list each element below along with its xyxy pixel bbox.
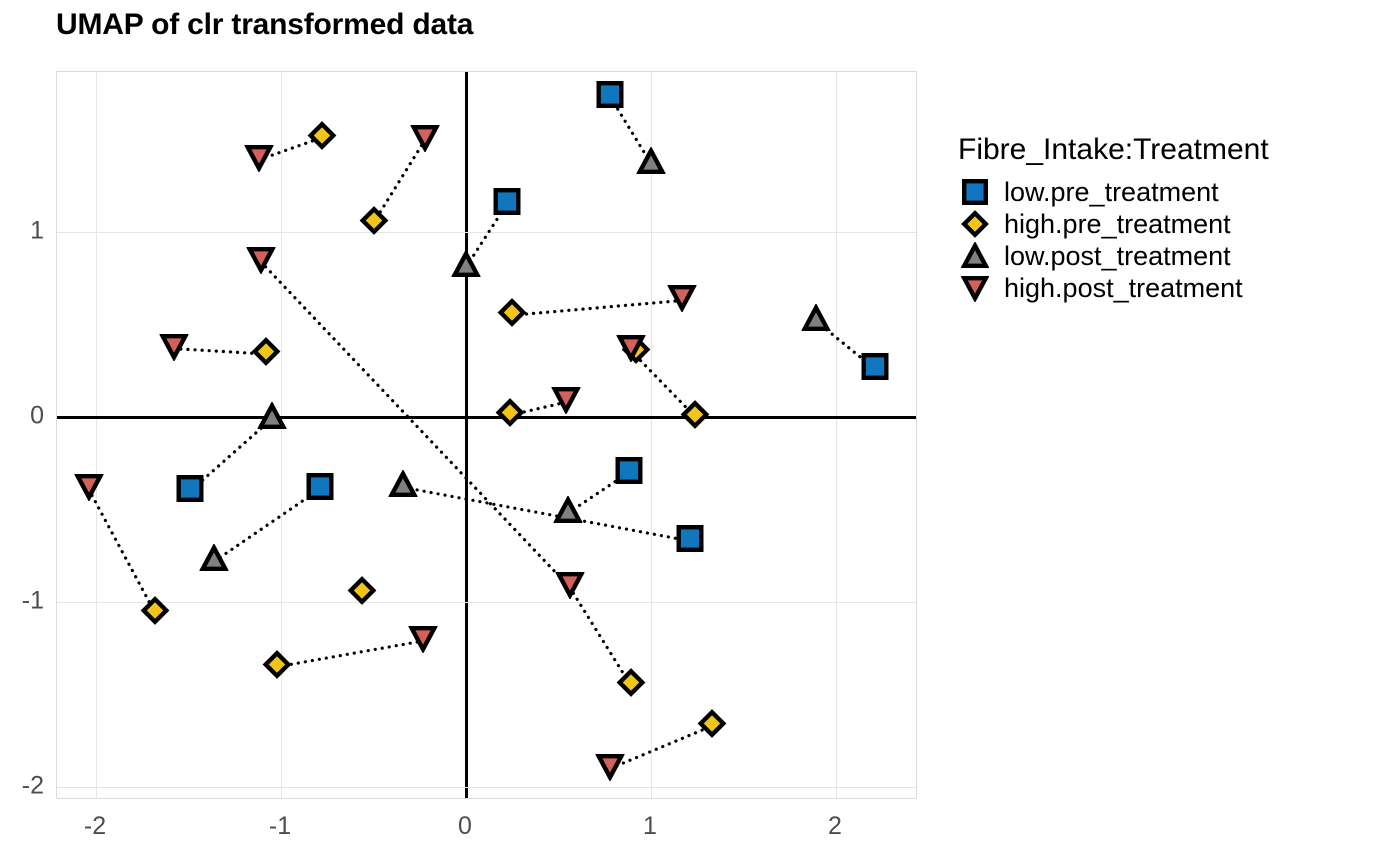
plot-panel [56,71,917,799]
y-tick-label: 1 [30,217,44,246]
data-point-triangle-down [246,245,275,279]
x-tick-label: 1 [643,812,657,841]
diamond-marker-icon [958,208,992,240]
data-point-triangle-up [553,496,582,530]
data-point-triangle-down [159,332,188,366]
data-point-diamond [496,398,525,432]
data-point-square [176,474,205,508]
connector-segments [57,72,916,798]
data-point-triangle-up [452,250,481,284]
legend: Fibre_Intake:Treatment low.pre_treatment… [958,132,1388,304]
legend-item-label: high.post_treatment [1004,273,1243,303]
gridline-vertical [836,72,837,798]
legend-item-label: high.pre_treatment [1004,209,1231,239]
data-point-square [492,187,521,221]
gridline-vertical [96,72,97,798]
data-point-triangle-down [244,143,273,177]
data-point-square [860,352,889,386]
plot-area [57,72,916,798]
page-title: UMAP of clr transformed data [56,8,473,42]
data-point-diamond [698,709,727,743]
legend-item-low-pre_treatment[interactable]: low.pre_treatment [958,176,1388,208]
data-point-triangle-up [801,304,830,338]
data-point-diamond [252,337,281,371]
data-point-triangle-down [74,472,103,506]
data-point-triangle-down [616,333,645,367]
connector-line [403,487,690,541]
y-zero-axis-line [57,416,916,419]
legend-item-low-post_treatment[interactable]: low.post_treatment [958,240,1388,272]
data-point-triangle-up [389,470,418,504]
y-tick-label: -2 [22,772,44,801]
data-point-square [675,524,704,558]
square-marker-icon [958,176,992,208]
data-point-triangle-down [551,385,580,419]
data-point-triangle-down [555,570,584,604]
data-point-square [305,472,334,506]
data-point-triangle-down [596,752,625,786]
legend-item-high-pre_treatment[interactable]: high.pre_treatment [958,208,1388,240]
y-tick-label: -1 [22,587,44,616]
data-point-triangle-up [637,147,666,181]
data-point-diamond [307,121,336,155]
data-point-triangle-up [200,544,229,578]
data-point-triangle-down [409,624,438,658]
data-point-diamond [141,596,170,630]
umap-scatter-plot: UMAP of clr transformed data -2-1012 10-… [0,0,1400,860]
x-tick-label: 0 [458,812,472,841]
connector-line [277,641,423,667]
connector-line [89,489,156,613]
data-point-triangle-down [668,283,697,317]
data-point-diamond [263,650,292,684]
data-point-triangle-down [411,123,440,157]
connector-line [512,300,682,315]
gridline-horizontal [57,602,916,603]
gridline-horizontal [57,787,916,788]
legend-item-label: low.post_treatment [1004,241,1231,271]
triangle-down-marker-icon [958,272,992,304]
data-point-triangle-up [257,402,286,436]
data-point-diamond [359,206,388,240]
triangle-up-marker-icon [958,240,992,272]
data-point-diamond [498,298,527,332]
x-tick-label: 2 [828,812,842,841]
x-tick-label: -1 [269,812,291,841]
legend-items: low.pre_treatmenthigh.pre_treatmentlow.p… [958,176,1388,304]
data-point-diamond [616,668,645,702]
connector-line [214,489,319,561]
data-point-square [614,456,643,490]
data-point-diamond [681,400,710,434]
y-tick-label: 0 [30,402,44,431]
x-zero-axis-line [465,72,468,798]
x-tick-label: -2 [84,812,106,841]
data-point-square [596,80,625,114]
data-point-diamond [348,576,377,610]
legend-item-high-post_treatment[interactable]: high.post_treatment [958,272,1388,304]
legend-title: Fibre_Intake:Treatment [958,132,1388,168]
gridline-vertical [651,72,652,798]
gridline-horizontal [57,232,916,233]
legend-item-label: low.pre_treatment [1004,177,1219,207]
